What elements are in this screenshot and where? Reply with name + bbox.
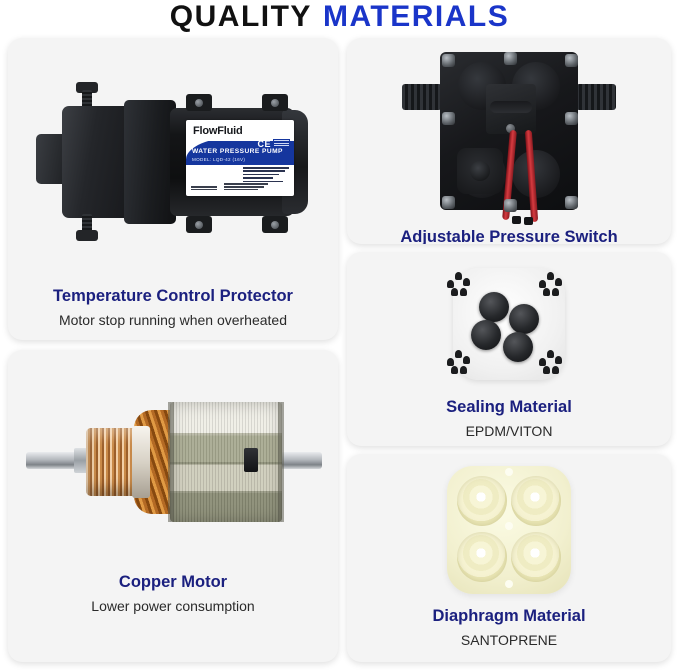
laminated-core [170, 402, 282, 522]
card-copper-motor: Copper Motor Lower power consumption [8, 350, 338, 662]
valve-seal [509, 304, 539, 334]
diaphragm-illustration [441, 460, 577, 600]
diaphragm-chamber [511, 476, 561, 526]
bolt-icon [504, 199, 517, 212]
screw-icon [195, 99, 203, 107]
diaphragm-center-nub [505, 580, 513, 588]
bolt-icon [565, 112, 578, 125]
card-heading: Temperature Control Protector [8, 286, 338, 306]
label-warning-right [224, 183, 268, 192]
pressure-switch-illustration [402, 44, 616, 220]
bolt-icon [504, 52, 517, 65]
card-heading: Adjustable Pressure Switch [347, 227, 671, 244]
card-heading: Sealing Material [347, 397, 671, 417]
valve-seal [479, 292, 509, 322]
page-title-materials: MATERIALS [323, 2, 509, 32]
seal-corner-cluster [539, 272, 569, 302]
core-band [168, 402, 174, 522]
page-title: QUALITY MATERIALS [0, 0, 679, 34]
wire-terminal [512, 216, 521, 224]
card-text-block: Adjustable Pressure Switch Factory defau… [347, 227, 671, 244]
ce-detail-block [273, 139, 290, 148]
core-band [278, 402, 284, 522]
water-pressure-pump-illustration: FlowFluid CE WATER PRESSURE PUMP MODEL: … [36, 90, 326, 235]
seal-plate-illustration [435, 260, 583, 390]
pressure-valve [457, 148, 503, 194]
sealing-material-image [347, 252, 671, 397]
infographic-page: QUALITY MATERIALS FlowFluid [0, 0, 679, 670]
bolt-icon [442, 54, 455, 67]
screw-icon [271, 99, 279, 107]
seal-corner-cluster [447, 272, 477, 302]
card-subtext: Motor stop running when overheated [8, 311, 338, 329]
card-temperature-control-protector: FlowFluid CE WATER PRESSURE PUMP MODEL: … [8, 38, 338, 340]
card-text-block: Temperature Control Protector Motor stop… [8, 286, 338, 329]
diaphragm-center-nub [505, 522, 513, 530]
pump-mount-foot [262, 216, 288, 233]
label-model: MODEL: LQD-42 (16V) [192, 157, 245, 162]
pressure-switch-image [347, 38, 671, 227]
bolt-icon [565, 54, 578, 67]
pump-image: FlowFluid CE WATER PRESSURE PUMP MODEL: … [8, 38, 338, 286]
bolt-icon [442, 112, 455, 125]
pump-mount-foot [262, 94, 288, 111]
card-heading: Copper Motor [8, 572, 338, 592]
diaphragm-chamber [511, 532, 561, 582]
motor-armature-illustration [22, 380, 324, 540]
label-warning-left [191, 186, 217, 192]
card-text-block: Diaphragm Material SANTOPRENE [347, 606, 671, 649]
card-diaphragm-material: Diaphragm Material SANTOPRENE [347, 454, 671, 662]
bolt-icon [565, 196, 578, 209]
card-text-block: Copper Motor Lower power consumption [8, 572, 338, 615]
valve-seal [471, 320, 501, 350]
page-title-quality: QUALITY [170, 2, 312, 32]
card-subtext: SANTOPRENE [347, 631, 671, 649]
diaphragm-center-nub [505, 468, 513, 476]
outlet-threaded-port [576, 84, 616, 110]
diaphragm-chamber [457, 476, 507, 526]
pump-head-plate [124, 100, 176, 224]
card-heading: Diaphragm Material [347, 606, 671, 626]
card-subtext: EPDM/VITON [347, 422, 671, 440]
winding-cap [244, 448, 258, 472]
pump-mount-foot [186, 216, 212, 233]
pressure-switch-lip [490, 101, 532, 113]
card-subtext: Lower power consumption [8, 597, 338, 615]
wire-terminal [524, 217, 533, 225]
label-product-name: WATER PRESSURE PUMP [192, 148, 283, 155]
inlet-threaded-port [402, 84, 442, 110]
diaphragm-image [347, 454, 671, 606]
pump-port-cap-bottom [76, 230, 98, 241]
screw-icon [271, 221, 279, 229]
screw-icon [195, 221, 203, 229]
card-sealing-material: Sealing Material EPDM/VITON [347, 252, 671, 446]
card-text-block: Sealing Material EPDM/VITON [347, 397, 671, 440]
pump-product-label: FlowFluid CE WATER PRESSURE PUMP MODEL: … [186, 120, 294, 196]
pump-mount-foot [186, 94, 212, 111]
copper-motor-image [8, 350, 338, 572]
card-adjustable-pressure-switch: Adjustable Pressure Switch Factory defau… [347, 38, 671, 244]
seal-corner-cluster [447, 350, 477, 380]
commutator-insulator [132, 426, 150, 498]
bolt-icon [442, 196, 455, 209]
label-spec-lines [243, 167, 289, 184]
seal-corner-cluster [539, 350, 569, 380]
diaphragm-chamber [457, 532, 507, 582]
valve-seal [503, 332, 533, 362]
